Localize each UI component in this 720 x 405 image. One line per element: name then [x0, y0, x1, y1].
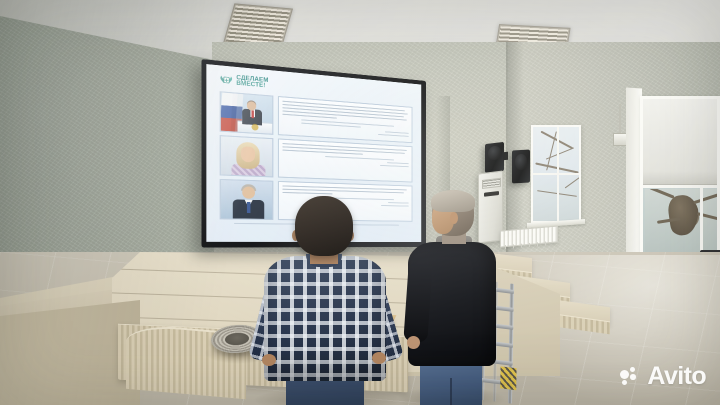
- wall-junction-box: [613, 133, 627, 146]
- person-black-jacket: [408, 190, 496, 405]
- speaker-bracket: [503, 152, 508, 160]
- window-mullion-horizontal: [533, 173, 579, 175]
- grey-hair: [431, 190, 475, 212]
- right-wall-window: [640, 96, 720, 262]
- roller-blind[interactable]: [643, 99, 717, 185]
- left-hand: [262, 354, 276, 366]
- avito-wordmark: Avito: [647, 364, 706, 389]
- quote-photo-2: [220, 135, 274, 177]
- avito-dots-icon: [620, 367, 642, 386]
- quote-card-1: [278, 96, 413, 143]
- ladder-warning-tape: [500, 366, 516, 390]
- ear: [450, 212, 458, 224]
- hands-heart-icon: [218, 72, 234, 88]
- window-mullion-vertical: [700, 185, 703, 259]
- quote-photo-1: [220, 91, 274, 135]
- window-mullion-horizontal: [643, 185, 717, 188]
- right-hand: [372, 352, 386, 364]
- back-wall-window: [531, 125, 581, 223]
- quote-row-2: [220, 135, 413, 182]
- wall-box-cable: [619, 104, 621, 134]
- plaid-shirt: [264, 256, 386, 381]
- ac-vent-grille: [482, 178, 501, 189]
- left-hand: [407, 336, 420, 349]
- avito-watermark: Avito: [620, 364, 706, 389]
- photo-scene: СДЕЛАЕМ ВМЕСТЕ!: [0, 0, 720, 405]
- cable-coil-center: [225, 332, 250, 346]
- head-dark-hair: [295, 196, 353, 256]
- person-plaid-shirt: [262, 196, 388, 405]
- quote-card-2: [278, 138, 413, 182]
- loudspeaker-right: [512, 150, 530, 184]
- slide-logo-text: СДЕЛАЕМ ВМЕСТЕ!: [236, 75, 268, 89]
- loudspeaker-left: [485, 142, 504, 173]
- tree-outside: [645, 189, 720, 259]
- quote-body-3: [282, 185, 408, 197]
- logo-line-2: ВМЕСТЕ!: [236, 81, 268, 89]
